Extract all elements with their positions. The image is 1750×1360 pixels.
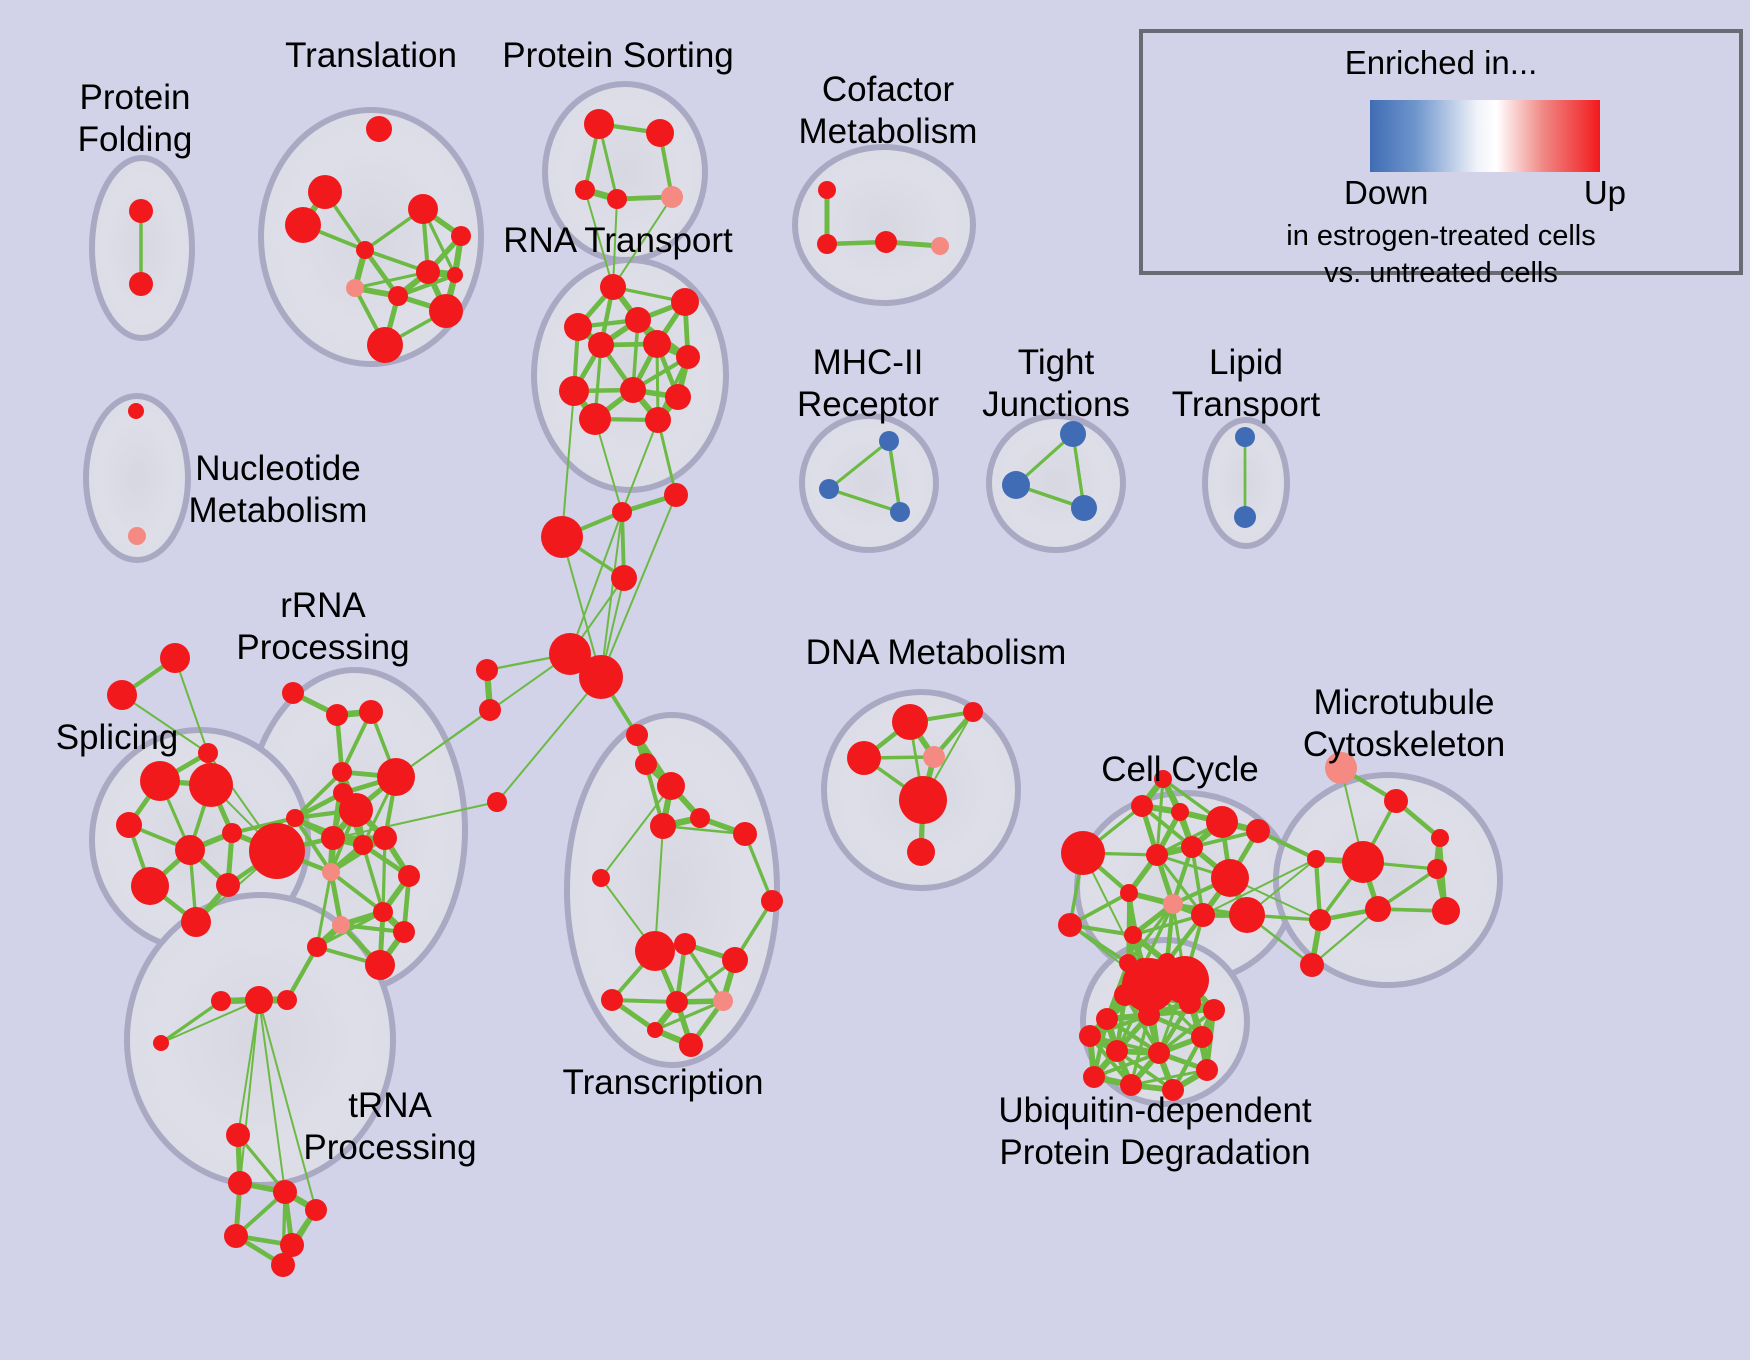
network-node[interactable]	[416, 260, 440, 284]
network-node[interactable]	[286, 809, 304, 827]
network-node[interactable]	[346, 279, 364, 297]
network-node[interactable]	[559, 376, 589, 406]
network-node[interactable]	[282, 682, 304, 704]
network-node[interactable]	[128, 527, 146, 545]
cluster-label-translation: Translation	[285, 36, 457, 75]
network-node[interactable]	[116, 812, 142, 838]
legend-caption-line-1: in estrogen-treated cells	[1286, 220, 1596, 252]
network-node[interactable]	[819, 479, 839, 499]
network-node[interactable]	[129, 199, 153, 223]
network-node[interactable]	[963, 702, 983, 722]
network-node[interactable]	[1106, 1040, 1128, 1062]
network-node[interactable]	[1071, 495, 1097, 521]
network-node[interactable]	[1365, 896, 1391, 922]
cluster-ellipse-cofactor-metabolism[interactable]	[795, 147, 973, 303]
network-node[interactable]	[664, 483, 688, 507]
network-node[interactable]	[899, 776, 947, 824]
network-node[interactable]	[1246, 819, 1270, 843]
network-node[interactable]	[332, 762, 352, 782]
network-node[interactable]	[1309, 909, 1331, 931]
network-node[interactable]	[665, 384, 691, 410]
network-node[interactable]	[249, 823, 305, 879]
cluster-label-transcription: Transcription	[563, 1063, 764, 1102]
network-node[interactable]	[607, 189, 627, 209]
network-node[interactable]	[373, 826, 397, 850]
network-node[interactable]	[1307, 850, 1325, 868]
network-node[interactable]	[393, 921, 415, 943]
network-node[interactable]	[575, 180, 595, 200]
network-node[interactable]	[359, 700, 383, 724]
network-node[interactable]	[1384, 789, 1408, 813]
network-node[interactable]	[332, 916, 350, 934]
network-node[interactable]	[1206, 806, 1238, 838]
network-node[interactable]	[1203, 999, 1225, 1021]
network-node[interactable]	[1120, 884, 1138, 902]
network-node[interactable]	[541, 516, 583, 558]
network-node[interactable]	[817, 234, 837, 254]
network-node[interactable]	[277, 990, 297, 1010]
network-node[interactable]	[892, 704, 928, 740]
network-node[interactable]	[175, 835, 205, 865]
network-node[interactable]	[226, 1123, 250, 1147]
legend-title: Enriched in...	[1345, 44, 1538, 81]
network-node[interactable]	[733, 822, 757, 846]
network-node[interactable]	[650, 813, 676, 839]
network-node[interactable]	[321, 826, 345, 850]
network-node[interactable]	[588, 332, 614, 358]
network-node[interactable]	[271, 1253, 295, 1277]
network-node[interactable]	[645, 407, 671, 433]
network-node[interactable]	[1114, 984, 1136, 1006]
network-node[interactable]	[635, 753, 657, 775]
network-node[interactable]	[646, 119, 674, 147]
network-node[interactable]	[875, 231, 897, 253]
network-node[interactable]	[322, 863, 340, 881]
network-node[interactable]	[160, 643, 190, 673]
legend-caption-line-2: vs. untreated cells	[1324, 257, 1558, 289]
network-node[interactable]	[308, 175, 342, 209]
legend-down-label: Down	[1344, 174, 1428, 211]
network-node[interactable]	[592, 869, 610, 887]
network-node[interactable]	[625, 307, 651, 333]
network-node[interactable]	[429, 294, 463, 328]
network-node[interactable]	[1061, 831, 1105, 875]
legend-up-label: Up	[1584, 174, 1626, 211]
network-node[interactable]	[1342, 841, 1384, 883]
network-node[interactable]	[1196, 1059, 1218, 1081]
network-node[interactable]	[222, 823, 242, 843]
network-node[interactable]	[661, 186, 683, 208]
network-node[interactable]	[1235, 427, 1255, 447]
network-node[interactable]	[1079, 1025, 1101, 1047]
network-node[interactable]	[153, 1035, 169, 1051]
network-node[interactable]	[128, 403, 144, 419]
network-node[interactable]	[1211, 859, 1249, 897]
network-node[interactable]	[601, 989, 623, 1011]
network-node[interactable]	[1158, 953, 1176, 971]
network-node[interactable]	[1191, 903, 1215, 927]
network-node[interactable]	[367, 327, 403, 363]
network-node[interactable]	[1083, 1066, 1105, 1088]
network-node[interactable]	[890, 502, 910, 522]
network-node[interactable]	[1181, 836, 1203, 858]
network-node[interactable]	[1131, 795, 1153, 817]
network-node[interactable]	[377, 758, 415, 796]
network-node[interactable]	[356, 241, 374, 259]
network-node[interactable]	[211, 991, 231, 1011]
network-node[interactable]	[666, 991, 688, 1013]
network-node[interactable]	[228, 1171, 252, 1195]
network-node[interactable]	[620, 377, 646, 403]
legend-color-bar	[1370, 100, 1600, 172]
cluster-label-protein-sorting: Protein Sorting	[502, 36, 734, 75]
network-node[interactable]	[1432, 897, 1460, 925]
network-node[interactable]	[713, 991, 733, 1011]
network-node[interactable]	[676, 345, 700, 369]
network-node[interactable]	[339, 793, 373, 827]
network-node[interactable]	[1060, 421, 1086, 447]
network-node[interactable]	[690, 808, 710, 828]
network-node[interactable]	[847, 741, 881, 775]
network-node[interactable]	[647, 1022, 663, 1038]
network-node[interactable]	[366, 116, 392, 142]
network-node[interactable]	[285, 207, 321, 243]
network-node[interactable]	[579, 403, 611, 435]
network-node[interactable]	[1427, 859, 1447, 879]
network-node[interactable]	[216, 873, 240, 897]
network-node[interactable]	[245, 986, 273, 1014]
network-node[interactable]	[198, 743, 218, 763]
network-node[interactable]	[398, 865, 420, 887]
network-node[interactable]	[487, 792, 507, 812]
network-node[interactable]	[1002, 471, 1030, 499]
network-node[interactable]	[365, 950, 395, 980]
cluster-label-dna-metabolism: DNA Metabolism	[806, 633, 1067, 672]
network-node[interactable]	[579, 655, 623, 699]
cluster-label-cell-cycle: Cell Cycle	[1101, 750, 1259, 789]
network-node[interactable]	[305, 1199, 327, 1221]
network-node[interactable]	[476, 659, 498, 681]
network-node[interactable]	[626, 724, 648, 746]
network-node[interactable]	[1191, 1026, 1213, 1048]
network-node[interactable]	[1096, 1008, 1118, 1030]
network-node[interactable]	[643, 330, 671, 358]
network-node[interactable]	[931, 237, 949, 255]
network-node[interactable]	[326, 704, 348, 726]
network-node[interactable]	[1300, 953, 1324, 977]
cluster-label-rna-transport: RNA Transport	[503, 221, 733, 260]
network-node[interactable]	[131, 867, 169, 905]
network-node[interactable]	[635, 931, 675, 971]
network-node[interactable]	[447, 267, 463, 283]
network-node[interactable]	[564, 313, 592, 341]
network-node[interactable]	[657, 772, 685, 800]
network-node[interactable]	[1124, 926, 1142, 944]
network-node[interactable]	[1229, 897, 1265, 933]
network-node[interactable]	[1234, 506, 1256, 528]
network-node[interactable]	[671, 288, 699, 316]
network-node[interactable]	[1138, 1004, 1160, 1026]
network-node[interactable]	[1431, 829, 1449, 847]
network-node[interactable]	[679, 1033, 703, 1057]
network-node[interactable]	[1179, 992, 1201, 1014]
network-node[interactable]	[600, 274, 626, 300]
network-node[interactable]	[107, 680, 137, 710]
network-node[interactable]	[224, 1224, 248, 1248]
network-node[interactable]	[1171, 803, 1189, 821]
network-figure: ProteinFoldingTranslationProtein Sorting…	[0, 0, 1750, 1360]
network-node[interactable]	[1148, 1042, 1170, 1064]
network-node[interactable]	[1058, 913, 1082, 937]
network-node[interactable]	[388, 286, 408, 306]
network-node[interactable]	[140, 761, 180, 801]
network-node[interactable]	[761, 890, 783, 912]
network-node[interactable]	[1163, 894, 1183, 914]
enrichment-network-svg: ProteinFoldingTranslationProtein Sorting…	[0, 0, 1750, 1360]
network-node[interactable]	[722, 947, 748, 973]
network-node[interactable]	[181, 907, 211, 937]
network-node[interactable]	[353, 835, 373, 855]
network-node[interactable]	[674, 933, 696, 955]
network-node[interactable]	[907, 838, 935, 866]
network-node[interactable]	[408, 194, 438, 224]
network-node[interactable]	[879, 431, 899, 451]
cluster-ellipse-rna-transport[interactable]	[534, 260, 726, 490]
network-node[interactable]	[273, 1180, 297, 1204]
network-node[interactable]	[1146, 844, 1168, 866]
network-node[interactable]	[611, 565, 637, 591]
network-node[interactable]	[307, 937, 327, 957]
network-node[interactable]	[129, 272, 153, 296]
cluster-label-splicing: Splicing	[56, 718, 179, 757]
network-node[interactable]	[189, 763, 233, 807]
network-node[interactable]	[479, 699, 501, 721]
network-node[interactable]	[373, 902, 393, 922]
network-node[interactable]	[1119, 954, 1137, 972]
network-node[interactable]	[451, 226, 471, 246]
network-node[interactable]	[818, 181, 836, 199]
network-node[interactable]	[923, 746, 945, 768]
network-node[interactable]	[612, 502, 632, 522]
network-node[interactable]	[584, 109, 614, 139]
